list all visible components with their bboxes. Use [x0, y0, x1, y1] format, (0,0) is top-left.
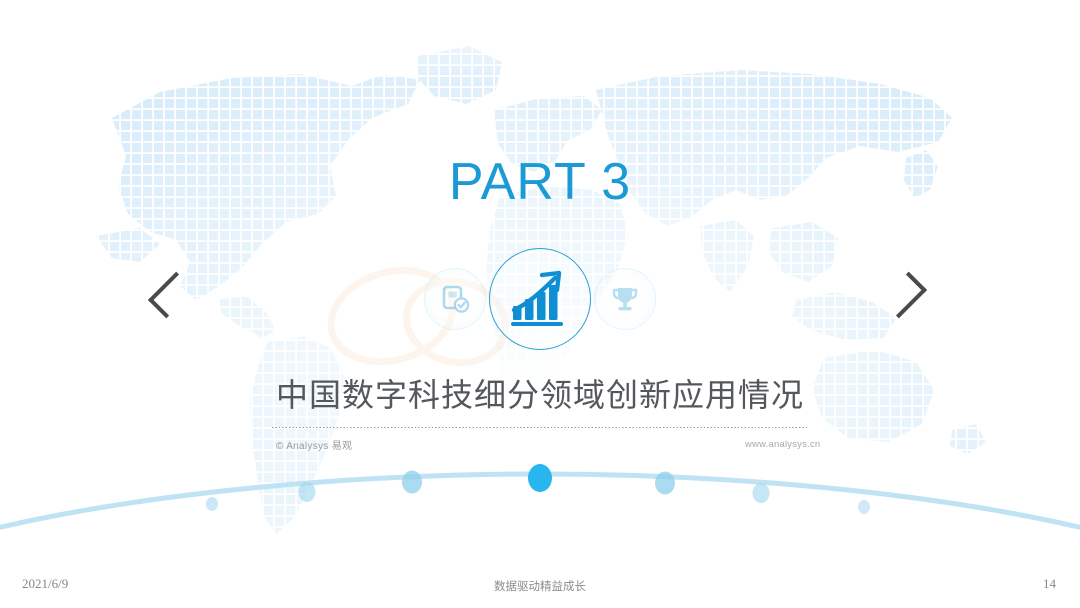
- trophy-icon[interactable]: [594, 268, 656, 330]
- slide-progress-arc: [0, 460, 1080, 550]
- bar-chart-growth-icon[interactable]: [489, 248, 591, 350]
- arc-dot: [655, 472, 675, 495]
- next-slide-button[interactable]: [884, 271, 932, 319]
- arc-dot: [206, 497, 218, 511]
- arc-dot: [402, 471, 422, 494]
- website-label: www.analysys.cn: [745, 439, 820, 450]
- arc-dot: [753, 483, 770, 503]
- copyright-label: © Analysys 易观: [276, 437, 352, 452]
- arc-dot-active: [528, 464, 552, 492]
- section-title: 中国数字科技细分领域创新应用情况: [0, 370, 1080, 416]
- footer-page-number: 14: [1043, 576, 1056, 592]
- part-label: PART 3: [0, 152, 1080, 212]
- chevron-right-icon: [880, 272, 927, 319]
- footer-tagline: 数据驱动精益成长: [0, 578, 1080, 594]
- arc-dots: [206, 464, 870, 514]
- arc-dot: [858, 500, 870, 514]
- arc-dot: [299, 482, 316, 502]
- slide-canvas: PART 3: [0, 0, 1080, 608]
- arc-line: [0, 474, 1080, 532]
- document-check-icon[interactable]: [424, 268, 486, 330]
- title-divider: [272, 427, 808, 428]
- slide-footer: 2021/6/9 数据驱动精益成长 14: [0, 566, 1080, 608]
